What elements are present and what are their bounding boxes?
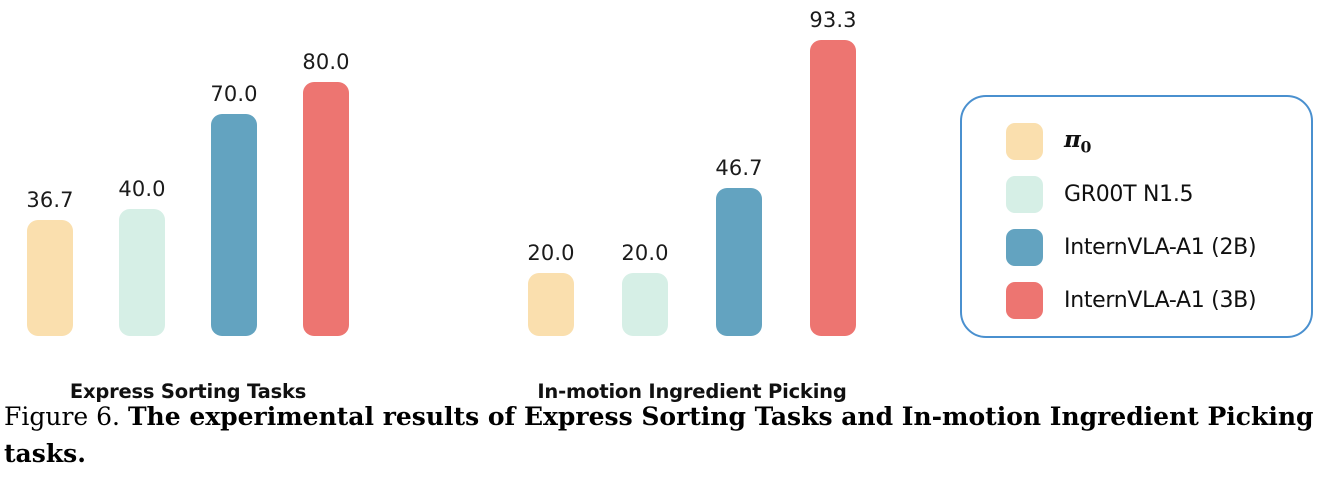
figure-6: 36.7 40.0 70.0 80.0 Express Sorting Task… — [0, 0, 1326, 392]
bar-pi0-express-sorting[interactable] — [27, 220, 73, 336]
bar-slot-g1-s0: 20.0 — [528, 36, 574, 336]
legend-item-pi0[interactable]: π0 — [1006, 115, 1301, 168]
legend-item-gr00t-n15[interactable]: GR00T N1.5 — [1006, 168, 1301, 221]
figure-caption-number: Figure 6. — [4, 402, 120, 431]
legend-swatch-icon — [1006, 229, 1043, 266]
chart-legend: π0 GR00T N1.5 InternVLA-A1 (2B) InternVL… — [960, 95, 1313, 338]
legend-item-label: GR00T N1.5 — [1064, 182, 1193, 207]
legend-item-label: InternVLA-A1 (2B) — [1064, 235, 1256, 260]
figure-caption-text: The experimental results of Express Sort… — [4, 402, 1314, 468]
legend-item-list: π0 GR00T N1.5 InternVLA-A1 (2B) InternVL… — [1006, 115, 1301, 327]
legend-item-internvla-a1-3b[interactable]: InternVLA-A1 (3B) — [1006, 274, 1301, 327]
bar-slot-g1-s2: 46.7 — [716, 36, 762, 336]
bar-slot-g0-s1: 40.0 — [119, 36, 165, 336]
bar-group-in-motion-ingredient-picking: 20.0 20.0 46.7 93.3 In-motion Ingredient… — [528, 36, 856, 336]
legend-label-subscript: 0 — [1081, 138, 1092, 157]
bar-slot-g1-s3: 93.3 — [810, 36, 856, 336]
bar-chart-plot-area: 36.7 40.0 70.0 80.0 Express Sorting Task… — [0, 0, 940, 392]
bar-gr00t-in-motion-picking[interactable] — [622, 273, 668, 336]
bar-slot-g0-s0: 36.7 — [27, 36, 73, 336]
bar-value-label: 40.0 — [118, 177, 165, 201]
legend-item-internvla-a1-2b[interactable]: InternVLA-A1 (2B) — [1006, 221, 1301, 274]
figure-caption: Figure 6. The experimental results of Ex… — [4, 398, 1322, 472]
bar-value-label: 70.0 — [210, 82, 257, 106]
legend-item-label: π0 — [1064, 126, 1091, 157]
bar-pi0-in-motion-picking[interactable] — [528, 273, 574, 336]
bar-slot-g0-s3: 80.0 — [303, 36, 349, 336]
bar-internvla-2b-in-motion-picking[interactable] — [716, 188, 762, 336]
bar-internvla-3b-in-motion-picking[interactable] — [810, 40, 856, 336]
bar-value-label: 36.7 — [26, 188, 73, 212]
legend-swatch-icon — [1006, 282, 1043, 319]
bar-value-label: 20.0 — [621, 241, 668, 265]
bar-value-label: 20.0 — [527, 241, 574, 265]
legend-item-label: InternVLA-A1 (3B) — [1064, 288, 1256, 313]
bar-gr00t-express-sorting[interactable] — [119, 209, 165, 336]
bar-value-label: 93.3 — [809, 8, 856, 32]
legend-swatch-icon — [1006, 123, 1043, 160]
bar-internvla-3b-express-sorting[interactable] — [303, 82, 349, 336]
bar-slot-g0-s2: 70.0 — [211, 36, 257, 336]
bar-group-express-sorting-tasks: 36.7 40.0 70.0 80.0 Express Sorting Task… — [27, 36, 349, 336]
bar-internvla-2b-express-sorting[interactable] — [211, 114, 257, 336]
bar-slot-g1-s1: 20.0 — [622, 36, 668, 336]
legend-label-base: π — [1064, 126, 1081, 153]
bar-value-label: 46.7 — [715, 156, 762, 180]
legend-swatch-icon — [1006, 176, 1043, 213]
bar-value-label: 80.0 — [302, 50, 349, 74]
